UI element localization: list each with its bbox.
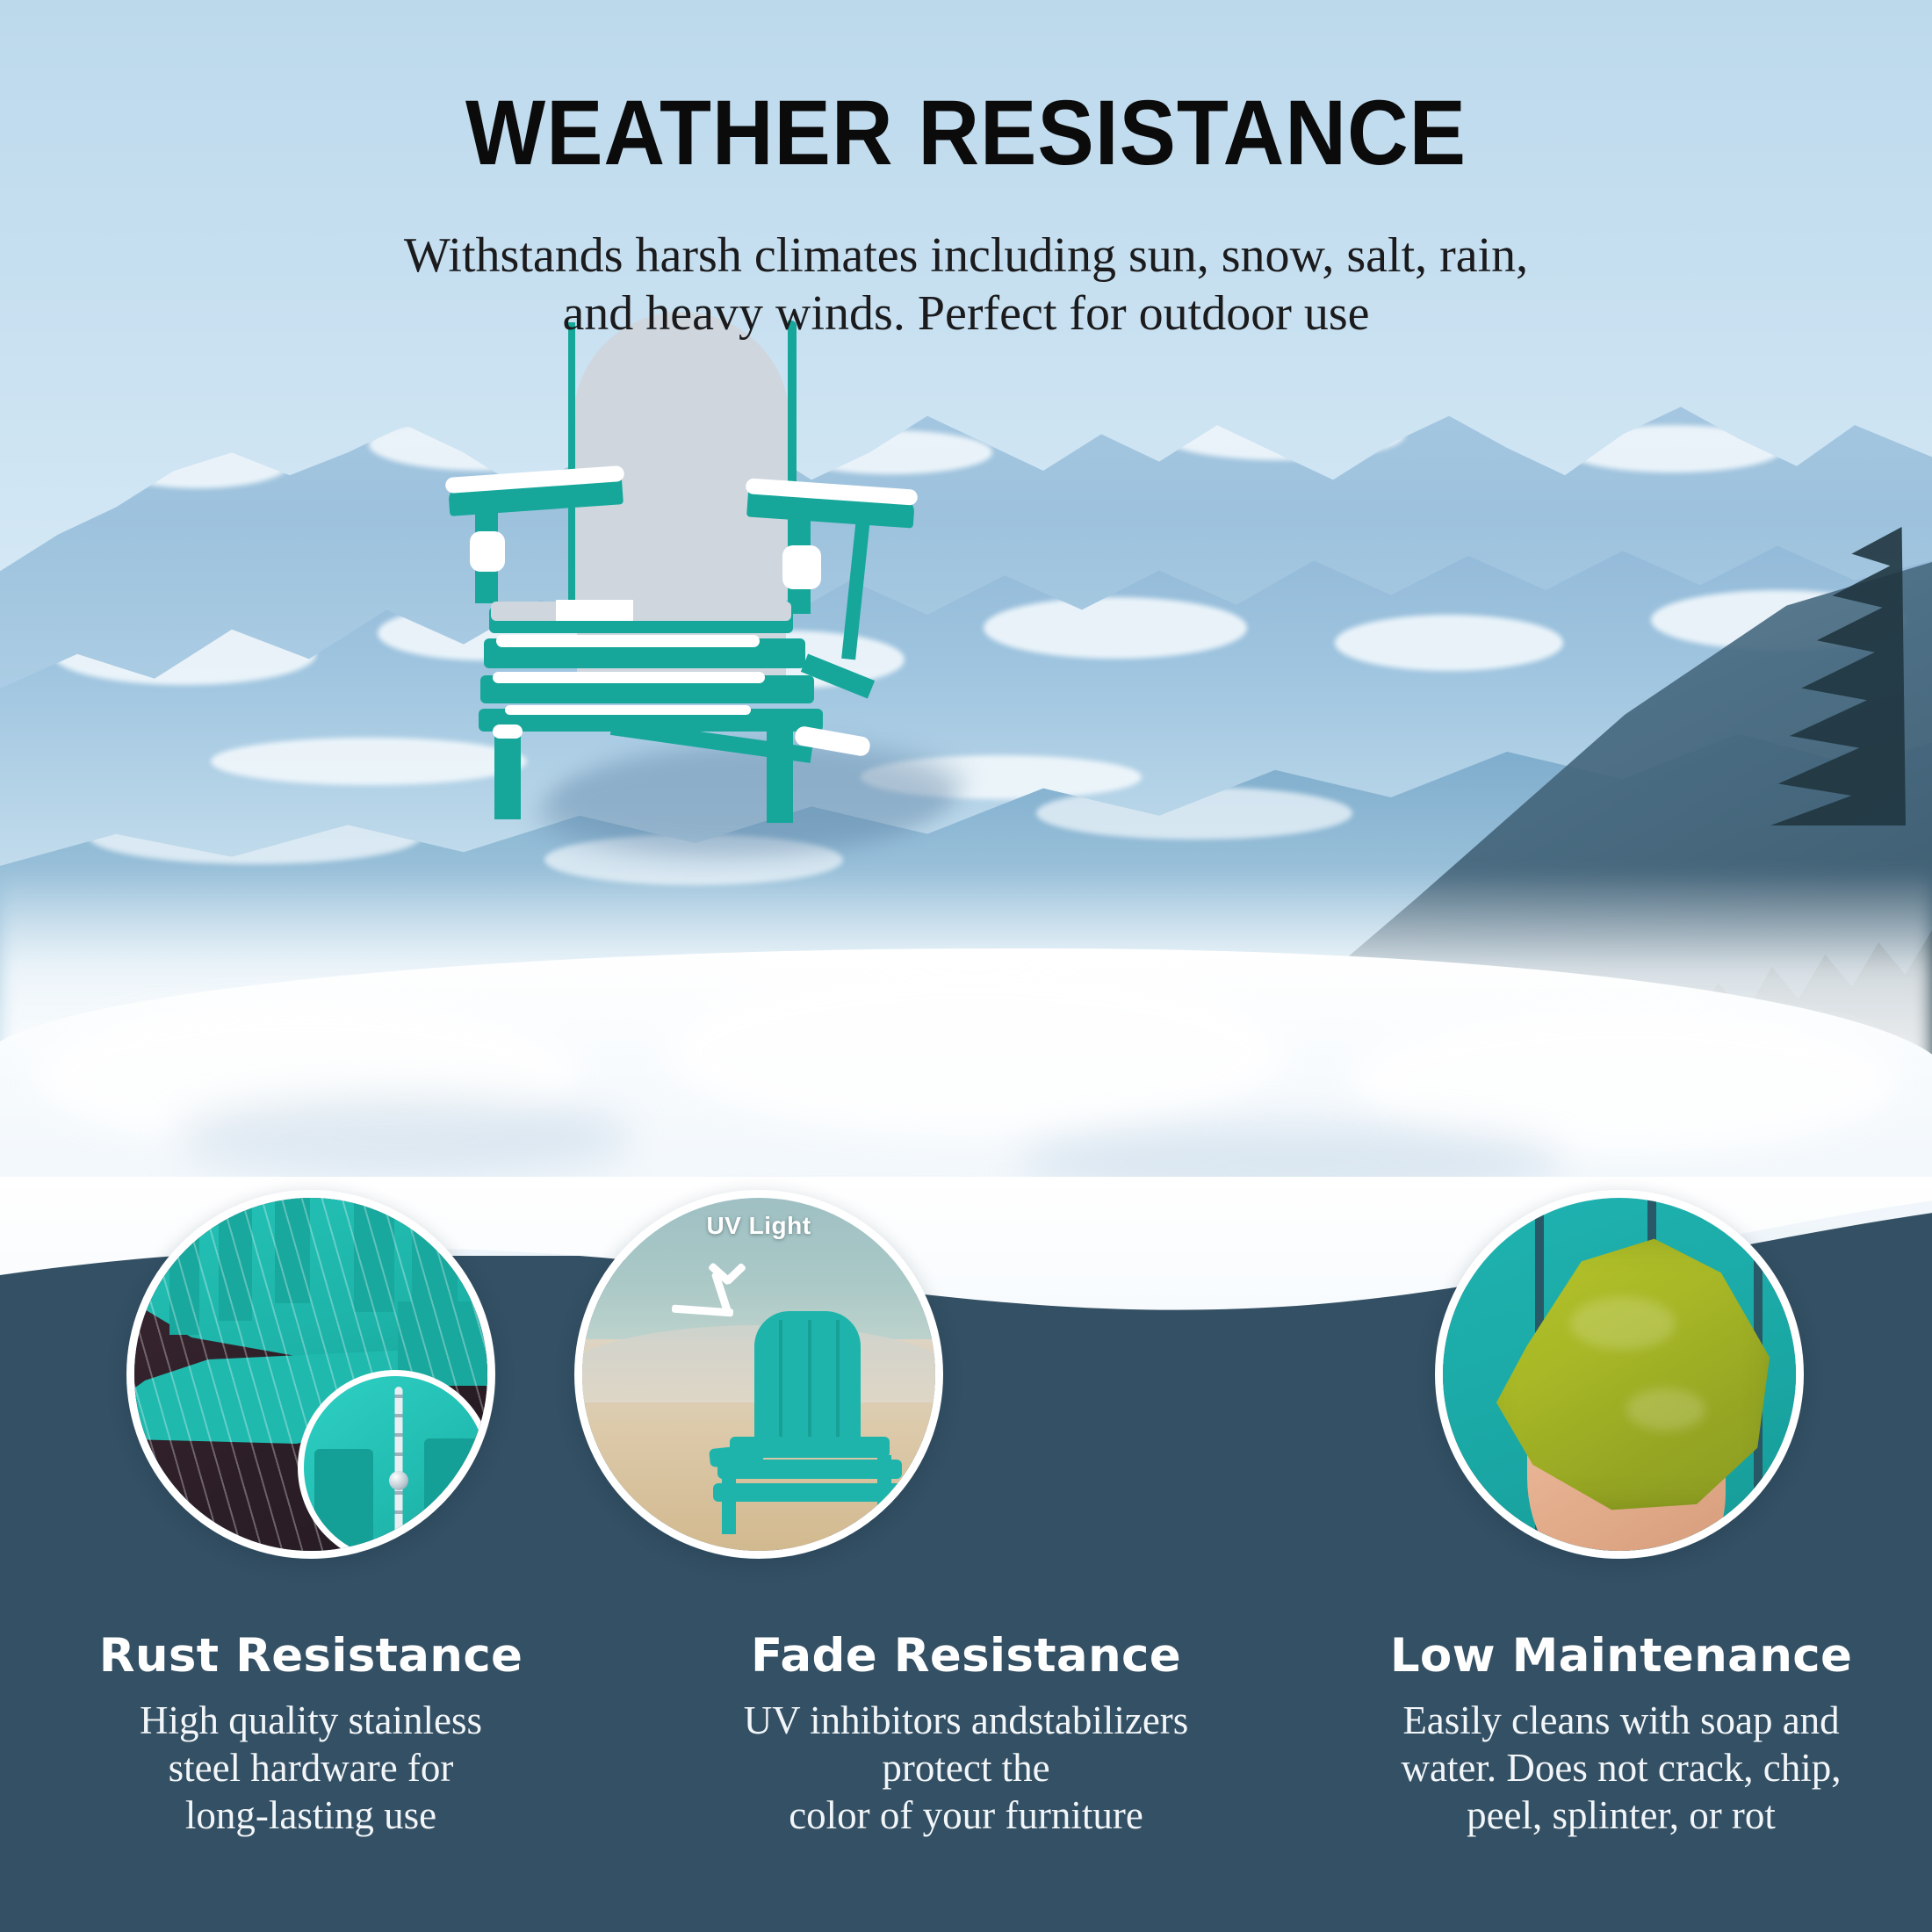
feature-desc-line: Easily cleans with soap and bbox=[1349, 1697, 1893, 1744]
feature-desc-line: peel, splinter, or rot bbox=[1349, 1791, 1893, 1839]
feature-desc-line: UV inhibitors andstabilizers bbox=[694, 1697, 1238, 1744]
page-title: WEATHER RESISTANCE bbox=[77, 81, 1855, 186]
feature-desc-fade: UV inhibitors andstabilizers protect the… bbox=[694, 1697, 1238, 1839]
feature-text-rust-resistance: Rust Resistance High quality stainless s… bbox=[39, 1629, 583, 1839]
page-subtitle: Withstands harsh climates including sun,… bbox=[0, 227, 1932, 342]
subtitle-line-1: Withstands harsh climates including sun,… bbox=[0, 227, 1932, 285]
feature-desc-line: steel hardware for bbox=[39, 1744, 583, 1791]
feature-image-low-maintenance bbox=[1435, 1190, 1804, 1559]
feature-image-rust-resistance bbox=[126, 1190, 495, 1559]
feature-desc-line: color of your furniture bbox=[694, 1791, 1238, 1839]
feature-image-fade-resistance: UV Light bbox=[574, 1190, 943, 1559]
feature-desc-rust: High quality stainless steel hardware fo… bbox=[39, 1697, 583, 1839]
feature-text-fade-resistance: Fade Resistance UV inhibitors andstabili… bbox=[694, 1629, 1238, 1839]
feature-title-fade: Fade Resistance bbox=[694, 1629, 1238, 1683]
feature-desc-maintenance: Easily cleans with soap and water. Does … bbox=[1349, 1697, 1893, 1839]
feature-text-low-maintenance: Low Maintenance Easily cleans with soap … bbox=[1349, 1629, 1893, 1839]
subtitle-line-2: and heavy winds. Perfect for outdoor use bbox=[0, 285, 1932, 342]
feature-desc-line: water. Does not crack, chip, bbox=[1349, 1744, 1893, 1791]
infographic-canvas: WEATHER RESISTANCE Withstands harsh clim… bbox=[0, 0, 1932, 1932]
feature-desc-line: long-lasting use bbox=[39, 1791, 583, 1839]
hardware-closeup-inset bbox=[298, 1370, 493, 1559]
beach-chair-graphic bbox=[710, 1311, 914, 1544]
feature-desc-line: protect the bbox=[694, 1744, 1238, 1791]
feature-title-maintenance: Low Maintenance bbox=[1349, 1629, 1893, 1683]
adirondack-chair-hero bbox=[443, 312, 918, 804]
feature-title-rust: Rust Resistance bbox=[39, 1629, 583, 1683]
feature-circle-row: UV Light bbox=[0, 1190, 1932, 1541]
uv-light-label: UV Light bbox=[706, 1212, 811, 1240]
feature-desc-line: High quality stainless bbox=[39, 1697, 583, 1744]
